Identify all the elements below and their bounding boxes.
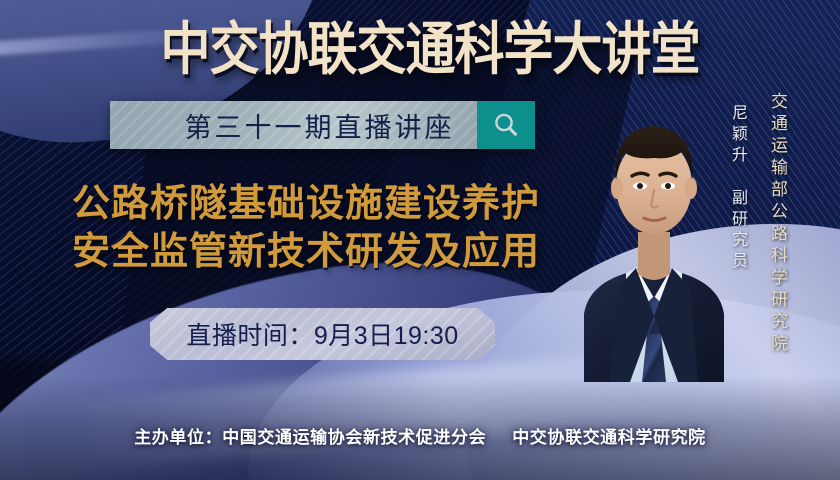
- footer-organizer-2: 中交协联交通科学研究院: [512, 428, 706, 447]
- poster-content: 中交协联交通科学大讲堂 第三十一期直播讲座 公路桥隧基础设施建设养护 安全监管新…: [0, 0, 840, 480]
- topic-line-1: 公路桥隧基础设施建设养护: [26, 180, 586, 228]
- live-time-badge: 直播时间：9月3日19:30: [150, 308, 495, 360]
- topic-line-2: 安全监管新技术研发及应用: [26, 228, 586, 276]
- search-input[interactable]: 第三十一期直播讲座: [110, 101, 477, 149]
- speaker-name: 尼颖升 副研究员: [725, 104, 749, 273]
- live-time-text: 直播时间：9月3日19:30: [186, 316, 458, 352]
- session-label: 第三十一期直播讲座: [133, 106, 455, 145]
- topic-heading: 公路桥隧基础设施建设养护 安全监管新技术研发及应用: [26, 180, 586, 276]
- speaker-organization: 交通运输部公路科学研究院: [765, 92, 790, 356]
- page-title: 中交协联交通科学大讲堂: [140, 16, 720, 82]
- search-button[interactable]: [477, 101, 535, 149]
- speaker-photo: [578, 82, 730, 382]
- session-search-bar[interactable]: 第三十一期直播讲座: [110, 101, 535, 149]
- footer-prefix: 主办单位：: [134, 428, 222, 447]
- footer-organizer-1: 中国交通运输协会新技术促进分会: [222, 428, 486, 447]
- search-icon: [491, 110, 521, 140]
- footer-organizers: 主办单位：中国交通运输协会新技术促进分会中交协联交通科学研究院: [0, 423, 840, 448]
- webinar-poster: 中交协联交通科学大讲堂 第三十一期直播讲座 公路桥隧基础设施建设养护 安全监管新…: [0, 0, 840, 480]
